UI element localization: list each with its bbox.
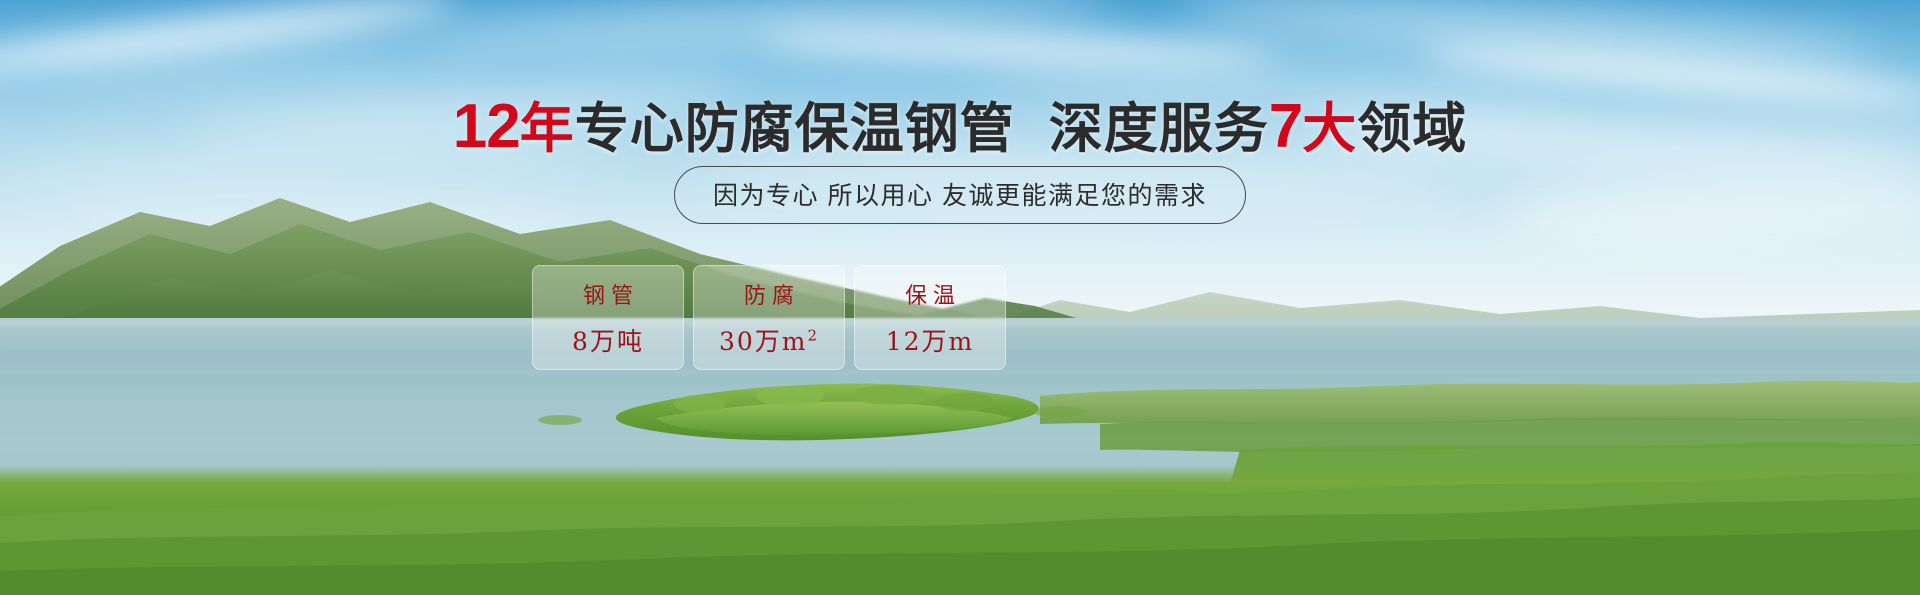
banner-content: 12年专心防腐保温钢管深度服务7大领域 因为专心 所以用心 友诚更能满足您的需求… [0,0,1920,595]
headline-years-number: 12 [453,92,520,161]
subtitle-container: 因为专心 所以用心 友诚更能满足您的需求 [0,166,1920,224]
stat-card-anticorrosion: 防腐 30万m2 [693,265,845,370]
stat-card-insulation: 保温 12万m [854,265,1006,370]
stat-card-value: 12万m [886,322,975,358]
stat-cards: 钢管 8万吨 防腐 30万m2 保温 12万m [532,265,1006,370]
headline-fields-text: 领域 [1357,99,1467,159]
stat-card-label: 钢管 [577,278,639,310]
subtitle-pill: 因为专心 所以用心 友诚更能满足您的需求 [674,166,1246,224]
headline-fields-unit: 大 [1302,99,1357,159]
headline-service-text: 深度服务 [1049,99,1269,159]
stat-card-value-text: 30万m [719,327,808,356]
stat-card-steel-pipe: 钢管 8万吨 [532,265,684,370]
headline-years-unit: 年 [520,99,575,159]
stat-card-label: 保温 [899,278,961,310]
stat-card-value-text: 12万m [886,327,975,356]
stat-card-label: 防腐 [738,278,800,310]
hero-banner: 12年专心防腐保温钢管深度服务7大领域 因为专心 所以用心 友诚更能满足您的需求… [0,0,1920,595]
stat-card-value-text: 8万吨 [572,327,644,356]
headline-fields-number: 7 [1269,92,1302,161]
stat-card-value: 30万m2 [719,322,819,358]
stat-card-value-sup: 2 [807,326,819,344]
stat-card-value: 8万吨 [572,322,644,358]
headline: 12年专心防腐保温钢管深度服务7大领域 [0,84,1920,163]
headline-main-text: 专心防腐保温钢管 [575,99,1015,159]
